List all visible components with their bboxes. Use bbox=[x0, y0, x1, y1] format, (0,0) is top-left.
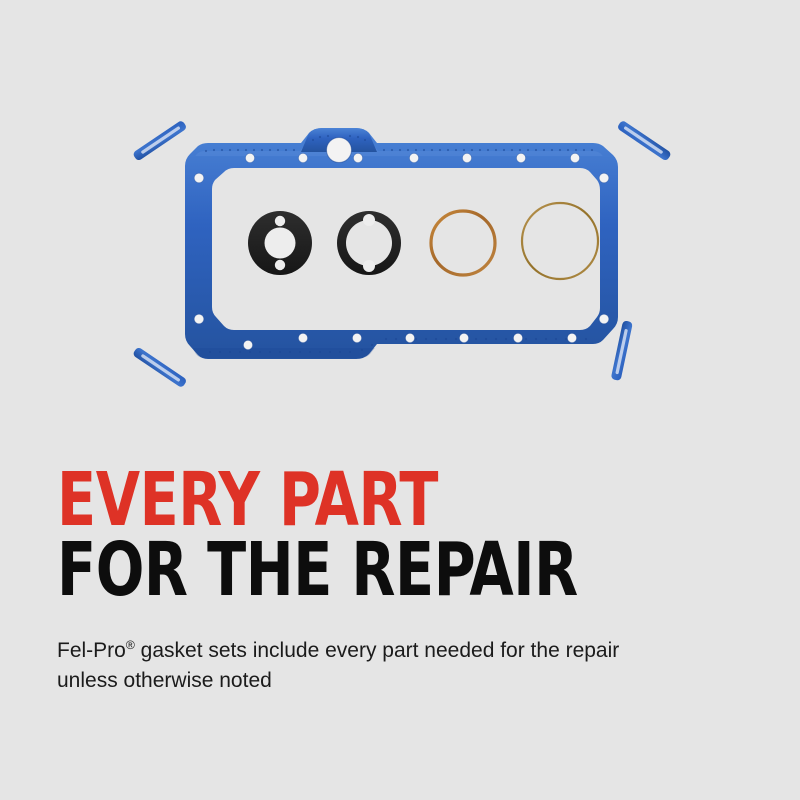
copy-block: EVERY PART FOR THE REPAIR Fel-Pro® gaske… bbox=[57, 466, 757, 696]
body-copy: Fel-Pro® gasket sets include every part … bbox=[57, 604, 682, 696]
black-ring-gasket-thin bbox=[337, 211, 401, 275]
black-ring-gasket-thick bbox=[248, 211, 312, 275]
rear-seal-strip-bottom-right bbox=[611, 320, 633, 381]
body-copy-brand: Fel-Pro bbox=[57, 639, 126, 662]
headline-line-2: FOR THE REPAIR bbox=[57, 536, 659, 604]
rear-seal-strip-bottom-left bbox=[132, 346, 187, 388]
rear-seal-strip-top-right bbox=[617, 120, 672, 162]
headline-line-1: EVERY PART bbox=[57, 466, 659, 534]
body-copy-rest: gasket sets include every part needed fo… bbox=[57, 639, 619, 692]
rear-seal-strip-top-left bbox=[132, 120, 187, 162]
copper-o-ring-small bbox=[431, 211, 495, 275]
marketing-banner: EVERY PART FOR THE REPAIR Fel-Pro® gaske… bbox=[0, 0, 800, 800]
registered-trademark-mark: ® bbox=[126, 638, 135, 652]
product-image bbox=[0, 0, 800, 440]
gold-o-ring-large bbox=[522, 203, 598, 279]
